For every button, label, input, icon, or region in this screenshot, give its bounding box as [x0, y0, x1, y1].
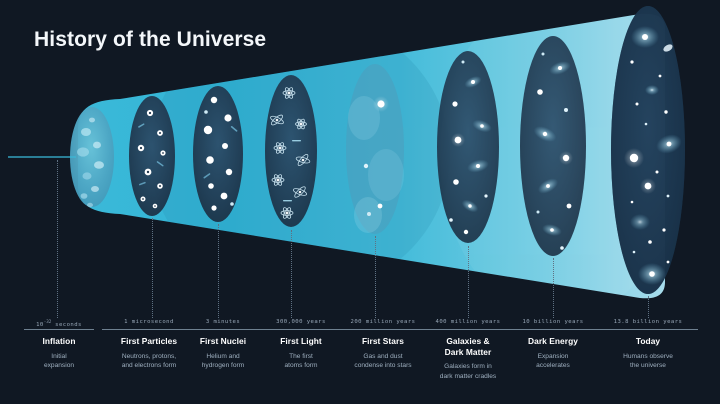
epoch-column-galaxies-dark-matter[interactable]: 400 million years Galaxies &Dark Matter … — [420, 316, 516, 381]
epoch-description-first-light: The firstatoms form — [258, 352, 344, 371]
epoch-column-first-light[interactable]: 300,000 years First Light The firstatoms… — [258, 316, 344, 371]
epoch-heading-first-nuclei: First Nuclei — [186, 336, 260, 347]
epoch-description-galaxies-dark-matter: Galaxies form indark matter cradles — [420, 362, 516, 381]
epoch-heading-first-particles: First Particles — [102, 336, 196, 347]
leader-line-dark-energy — [553, 258, 554, 318]
epoch-heading-first-light: First Light — [258, 336, 344, 347]
leader-line-first-nuclei — [218, 224, 219, 318]
epoch-slice-first-stars — [346, 64, 404, 234]
epoch-slice-first-particles — [129, 96, 175, 216]
epoch-column-first-stars[interactable]: 200 million years First Stars Gas and du… — [336, 316, 430, 371]
epoch-heading-galaxies-dark-matter: Galaxies &Dark Matter — [420, 336, 516, 357]
epoch-rule — [258, 329, 344, 330]
epoch-rule — [598, 329, 698, 330]
page-title: History of the Universe — [34, 28, 266, 52]
epoch-label-row: 10-32 seconds Inflation Initialexpansion… — [0, 316, 720, 404]
epoch-column-dark-energy[interactable]: 10 billion years Dark Energy Expansionac… — [508, 316, 598, 371]
leader-line-first-light — [291, 230, 292, 318]
leader-line-first-stars — [375, 236, 376, 318]
epoch-description-dark-energy: Expansionaccelerates — [508, 352, 598, 371]
epoch-slice-first-nuclei — [193, 86, 243, 222]
leader-line-galaxies-dark-matter — [468, 246, 469, 318]
epoch-time-first-light: 300,000 years — [258, 316, 344, 328]
epoch-slice-inflation — [70, 107, 114, 207]
epoch-column-inflation[interactable]: 10-32 seconds Inflation Initialexpansion — [24, 316, 94, 371]
epoch-slice-dark-energy — [520, 36, 586, 256]
epoch-description-today: Humans observethe universe — [598, 352, 698, 371]
epoch-time-galaxies-dark-matter: 400 million years — [420, 316, 516, 328]
epoch-slice-first-light — [265, 75, 317, 227]
leader-line-first-particles — [152, 218, 153, 318]
epoch-rule — [186, 329, 260, 330]
epoch-time-first-stars: 200 million years — [336, 316, 430, 328]
epoch-column-first-particles[interactable]: 1 microsecond First Particles Neutrons, … — [102, 316, 196, 371]
epoch-time-first-particles: 1 microsecond — [102, 316, 196, 328]
epoch-time-dark-energy: 10 billion years — [508, 316, 598, 328]
leader-line-inflation — [57, 160, 58, 318]
epoch-slice-galaxies-dark-matter — [437, 51, 499, 243]
epoch-heading-dark-energy: Dark Energy — [508, 336, 598, 347]
epoch-rule — [336, 329, 430, 330]
universe-history-infographic: History of the Universe — [0, 0, 720, 404]
epoch-heading-today: Today — [598, 336, 698, 347]
epoch-description-inflation: Initialexpansion — [24, 352, 94, 371]
epoch-description-first-particles: Neutrons, protons,and electrons form — [102, 352, 196, 371]
epoch-slice-today — [611, 6, 685, 294]
epoch-heading-first-stars: First Stars — [336, 336, 430, 347]
epoch-time-today: 13.8 billion years — [598, 316, 698, 328]
epoch-rule — [24, 329, 94, 330]
epoch-time-inflation: 10-32 seconds — [24, 316, 94, 328]
epoch-rule — [508, 329, 598, 330]
epoch-description-first-nuclei: Helium andhydrogen form — [186, 352, 260, 371]
epoch-rule — [420, 329, 516, 330]
leader-line-today — [648, 296, 649, 318]
epoch-time-first-nuclei: 3 minutes — [186, 316, 260, 328]
epoch-rule — [102, 329, 196, 330]
epoch-column-today[interactable]: 13.8 billion years Today Humans observet… — [598, 316, 698, 371]
epoch-heading-inflation: Inflation — [24, 336, 94, 347]
epoch-description-first-stars: Gas and dustcondense into stars — [336, 352, 430, 371]
epoch-column-first-nuclei[interactable]: 3 minutes First Nuclei Helium andhydroge… — [186, 316, 260, 371]
